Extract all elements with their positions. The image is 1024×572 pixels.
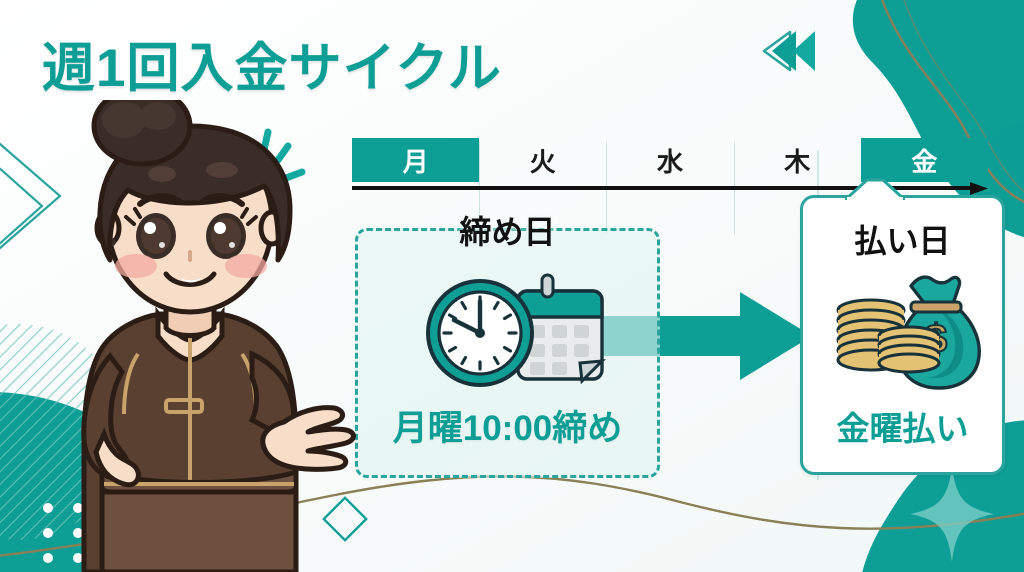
payout-card-value: 金曜払い xyxy=(803,402,1002,450)
double-chevron-left-icon xyxy=(760,26,822,76)
weekday-label: 水 xyxy=(657,142,683,179)
money-bag-coins-icon: $ xyxy=(825,270,985,390)
blush-right xyxy=(225,254,267,278)
page-title: 週1回入金サイクル xyxy=(42,26,502,102)
weekday-label: 火 xyxy=(530,142,556,179)
weekday-cell-wed[interactable]: 水 xyxy=(606,138,733,182)
infographic-canvas: 週1回入金サイクル 月 火 水 木 xyxy=(0,0,1024,572)
clock-calendar-icon xyxy=(414,267,614,395)
weekday-label: 木 xyxy=(784,142,810,179)
weekday-cell-mon[interactable]: 月 xyxy=(352,138,479,182)
payout-day-card: 払い日 $ xyxy=(800,195,1005,475)
blush-left xyxy=(115,254,157,278)
payout-card-pointer xyxy=(845,178,905,200)
weekday-label: 金 xyxy=(911,142,937,179)
weekday-cell-fri[interactable]: 金 xyxy=(861,138,988,182)
weekday-label: 月 xyxy=(403,142,429,179)
closing-day-card: 月曜10:00締め xyxy=(355,228,660,478)
weekday-cell-thu[interactable]: 木 xyxy=(734,138,861,182)
closing-card-title: 締め日 xyxy=(355,207,660,253)
weekday-cell-tue[interactable]: 火 xyxy=(479,138,606,182)
payout-card-title: 払い日 xyxy=(803,216,1002,262)
presenter-woman-illustration xyxy=(40,100,370,572)
closing-card-value: 月曜10:00締め xyxy=(358,400,657,451)
weekday-cells: 月 火 水 木 金 xyxy=(352,138,988,182)
